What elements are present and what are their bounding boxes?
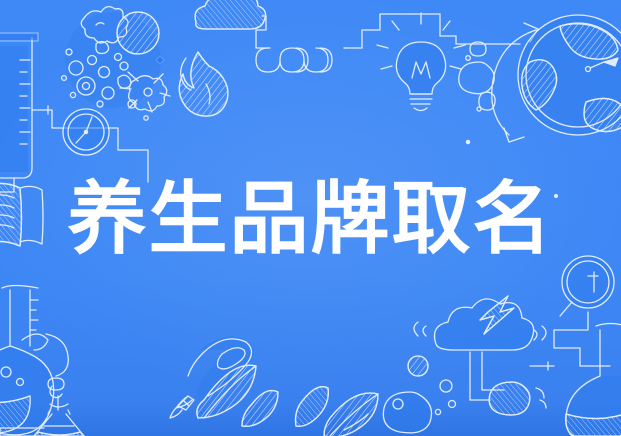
fountain-pen-sketch (170, 337, 254, 418)
test-tube-sketch (0, 33, 38, 178)
cloud-hatched-sketch (195, 0, 266, 29)
flame-leaf-sketch (179, 52, 228, 116)
magnifier-sketch (560, 256, 614, 316)
cloud-lightning-sketch (414, 296, 546, 400)
leaf-sketch (197, 365, 378, 436)
flask-distillation-sketch (0, 286, 68, 436)
curved-arrow-sketch (492, 23, 538, 142)
banner: 养生品牌取名 (0, 0, 621, 436)
round-flask-sketch (566, 324, 621, 436)
node-link-sketch (530, 312, 610, 370)
lightbulb-sketch (377, 13, 465, 111)
erlenmeyer-flask-sketch (34, 404, 84, 436)
speech-bubble-sketch (459, 42, 495, 111)
node-link-sketch (383, 356, 455, 433)
globe-sketch (518, 15, 621, 135)
headline-container: 养生品牌取名 (0, 176, 621, 262)
gauge-clock-sketch (63, 109, 109, 155)
page-title: 养生品牌取名 (68, 176, 554, 262)
node-link-sketch (489, 382, 546, 415)
cell-cluster-sketch (62, 7, 170, 121)
coil-spring-sketch (256, 14, 520, 72)
